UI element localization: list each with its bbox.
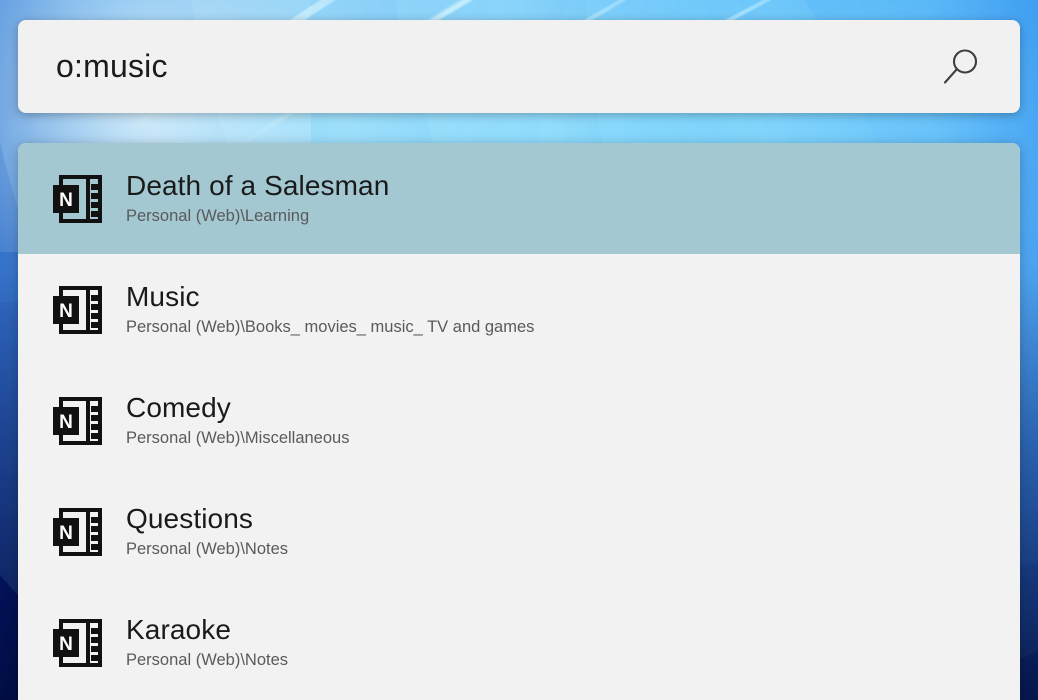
result-subtitle: Personal (Web)\Notes — [126, 649, 288, 671]
result-text: ComedyPersonal (Web)\Miscellaneous — [126, 392, 349, 450]
svg-text:N: N — [59, 634, 73, 655]
svg-text:N: N — [59, 190, 73, 211]
search-icon[interactable] — [938, 44, 984, 90]
result-row[interactable]: NKaraokePersonal (Web)\Notes — [18, 587, 1020, 698]
result-title: Comedy — [126, 392, 349, 424]
result-text: QuestionsPersonal (Web)\Notes — [126, 503, 288, 561]
onenote-icon: N — [50, 506, 106, 558]
result-text: KaraokePersonal (Web)\Notes — [126, 614, 288, 672]
result-row[interactable]: NMusicPersonal (Web)\Books_ movies_ musi… — [18, 254, 1020, 365]
result-subtitle: Personal (Web)\Learning — [126, 205, 389, 227]
onenote-icon: N — [50, 395, 106, 447]
result-title: Death of a Salesman — [126, 170, 389, 202]
svg-text:N: N — [59, 523, 73, 544]
search-input[interactable]: o:music — [56, 49, 938, 84]
result-text: MusicPersonal (Web)\Books_ movies_ music… — [126, 281, 534, 339]
search-bar[interactable]: o:music — [18, 20, 1020, 113]
search-results-list: NDeath of a SalesmanPersonal (Web)\Learn… — [18, 143, 1020, 700]
svg-text:N: N — [59, 301, 73, 322]
result-text: Death of a SalesmanPersonal (Web)\Learni… — [126, 170, 389, 228]
result-row[interactable]: NQuestionsPersonal (Web)\Notes — [18, 476, 1020, 587]
result-row[interactable]: NComedyPersonal (Web)\Miscellaneous — [18, 365, 1020, 476]
results-scrollbar-track[interactable] — [1011, 143, 1025, 700]
result-subtitle: Personal (Web)\Miscellaneous — [126, 427, 349, 449]
result-title: Questions — [126, 503, 288, 535]
result-subtitle: Personal (Web)\Books_ movies_ music_ TV … — [126, 316, 534, 338]
desktop-screen: o:music NDeath of a SalesmanPersonal (We… — [0, 0, 1038, 700]
result-title: Music — [126, 281, 534, 313]
result-subtitle: Personal (Web)\Notes — [126, 538, 288, 560]
onenote-icon: N — [50, 173, 106, 225]
search-results-panel: NDeath of a SalesmanPersonal (Web)\Learn… — [18, 143, 1020, 700]
onenote-icon: N — [50, 284, 106, 336]
onenote-icon: N — [50, 617, 106, 669]
result-row[interactable]: NDeath of a SalesmanPersonal (Web)\Learn… — [18, 143, 1020, 254]
svg-text:N: N — [59, 412, 73, 433]
result-title: Karaoke — [126, 614, 288, 646]
